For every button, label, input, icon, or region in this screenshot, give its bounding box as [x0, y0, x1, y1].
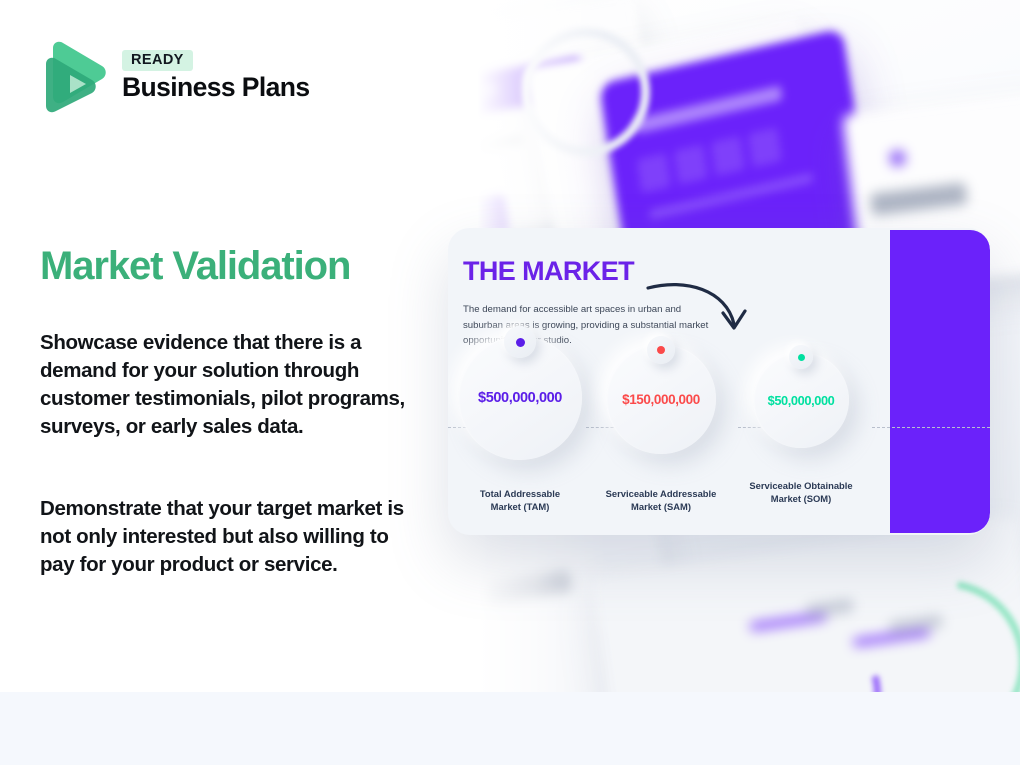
background-accent-bar [432, 57, 587, 131]
slide-canvas: READY Business Plans Market Validation S… [0, 0, 1020, 765]
market-card-title: THE MARKET [463, 258, 634, 285]
card-accent-block [890, 230, 990, 533]
metric-knob [789, 345, 813, 369]
metric-value: $500,000,000 [478, 390, 562, 406]
bottom-strip [0, 692, 1020, 765]
background-placeholder-bar [432, 83, 497, 113]
background-ring [522, 28, 650, 156]
background-placeholder-bar [748, 127, 783, 167]
background-placeholder-bar [649, 172, 814, 220]
background-placeholder-bar [637, 153, 672, 193]
the-market-slide-card: THE MARKET The demand for accessible art… [448, 228, 990, 535]
metric-tam: $500,000,000 Total Addressable Market (T… [458, 336, 582, 460]
brand-name: Business Plans [122, 74, 310, 102]
background-placeholder-bar [634, 85, 783, 134]
brand-text-group: READY Business Plans [122, 50, 310, 102]
metric-value: $50,000,000 [768, 393, 835, 408]
status-dot-purple-icon [516, 338, 525, 347]
metric-caption: Serviceable Addressable Market (SAM) [584, 488, 738, 514]
metric-caption: Total Addressable Market (TAM) [452, 488, 588, 514]
metric-bubble: $500,000,000 [458, 336, 582, 460]
metric-value: $150,000,000 [622, 392, 700, 407]
metric-knob [647, 336, 675, 364]
metric-knob [504, 326, 536, 358]
background-dot [441, 567, 471, 597]
status-dot-green-icon [798, 354, 805, 361]
background-placeholder-bar [432, 43, 477, 72]
metric-bubble: $50,000,000 [753, 352, 849, 448]
body-paragraph-1: Showcase evidence that there is a demand… [40, 329, 418, 441]
metric-bubble: $150,000,000 [606, 344, 716, 454]
background-placeholder-bar [805, 598, 854, 619]
background-dot [889, 149, 907, 167]
play-triangle-logo-icon [40, 38, 108, 114]
connector-dash-4 [872, 427, 990, 428]
background-placeholder-bar [432, 135, 524, 167]
ready-badge: READY [122, 50, 193, 72]
metric-sam: $150,000,000 Serviceable Addressable Mar… [606, 344, 716, 454]
background-placeholder-bar [711, 136, 746, 176]
background-placeholder-bar [674, 144, 709, 184]
brand-logo-block: READY Business Plans [40, 38, 310, 114]
curved-arrow-down-right-icon [646, 280, 756, 342]
page-title: Market Validation [40, 244, 350, 288]
metric-caption: Serviceable Obtainable Market (SOM) [725, 480, 877, 506]
status-dot-red-icon [657, 346, 665, 354]
metric-som: $50,000,000 Serviceable Obtainable Marke… [753, 352, 849, 448]
background-placeholder-bar [481, 570, 571, 605]
left-content-panel: READY Business Plans Market Validation S… [0, 0, 432, 692]
background-placeholder-bar [870, 182, 968, 216]
body-paragraph-2: Demonstrate that your target market is n… [40, 495, 418, 579]
